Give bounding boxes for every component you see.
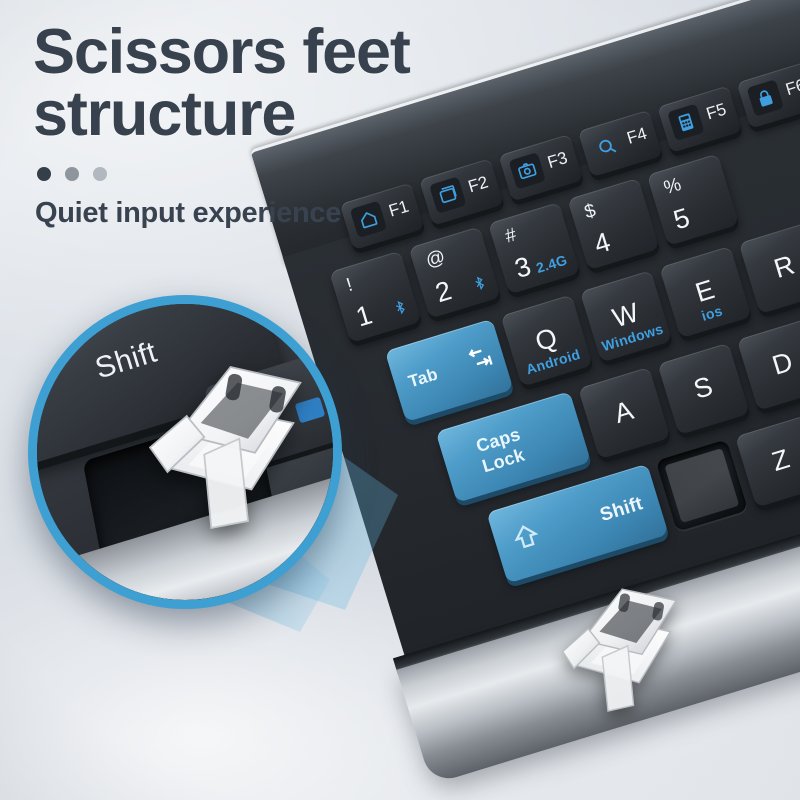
- key-f5-label: F5: [704, 100, 729, 125]
- key-caps-lock[interactable]: Caps Lock: [436, 391, 592, 503]
- key-f4-label: F4: [625, 124, 650, 149]
- key-z-legend: Z: [768, 443, 793, 478]
- magnifier-content: Shift: [37, 304, 333, 600]
- empty-keycap-well: [656, 439, 748, 531]
- bluetooth-icon: [391, 298, 411, 320]
- key-1[interactable]: ! 1: [329, 251, 421, 343]
- calculator-icon: [667, 104, 704, 141]
- key-f6-label: F6: [783, 75, 800, 100]
- key-a-legend: A: [611, 395, 638, 430]
- key-f3-label: F3: [545, 148, 570, 173]
- key-f2-label: F2: [466, 172, 491, 197]
- search-icon: [588, 128, 625, 165]
- key-5[interactable]: % 5: [647, 153, 739, 245]
- magnified-scissor-mechanism: [129, 332, 333, 542]
- key-w[interactable]: W Windows: [580, 270, 672, 362]
- key-2-legend: 2: [432, 275, 456, 309]
- key-r[interactable]: R: [739, 222, 800, 314]
- key-f2[interactable]: F2: [419, 158, 504, 226]
- key-4-legend: 4: [591, 226, 615, 260]
- key-caps-lock-label: Caps Lock: [474, 417, 553, 478]
- key-f3[interactable]: F3: [498, 134, 583, 202]
- key-r-legend: R: [771, 249, 799, 284]
- key-q[interactable]: Q Android: [500, 294, 592, 386]
- key-2-shift-legend: @: [423, 246, 448, 273]
- carousel-dot-1[interactable]: [37, 167, 51, 181]
- key-f5[interactable]: F5: [657, 85, 742, 153]
- key-f6[interactable]: F6: [737, 61, 800, 129]
- marketing-copy: Scissors feet structure Quiet input expe…: [33, 22, 410, 230]
- key-d-legend: D: [769, 346, 797, 381]
- key-e[interactable]: E ios: [659, 246, 751, 338]
- key-5-legend: 5: [670, 202, 694, 236]
- key-3-shift-legend: #: [503, 224, 520, 248]
- key-z[interactable]: Z: [735, 415, 800, 507]
- key-5-shift-legend: %: [661, 174, 684, 200]
- key-3[interactable]: # 3 2.4G: [488, 202, 580, 294]
- page-title: Scissors feet structure: [33, 22, 410, 145]
- page-subtitle: Quiet input experience: [35, 197, 410, 230]
- key-4[interactable]: $ 4: [567, 178, 659, 270]
- magnifier-circle: Shift: [28, 295, 342, 609]
- screenshot-icon: [508, 152, 545, 189]
- window-icon: [429, 176, 466, 213]
- key-a[interactable]: A: [578, 367, 670, 459]
- key-f4[interactable]: F4: [578, 110, 663, 178]
- key-1-shift-legend: !: [344, 274, 355, 297]
- carousel-dots[interactable]: [37, 167, 410, 181]
- shift-arrow-icon: [507, 518, 546, 560]
- carousel-dot-3[interactable]: [93, 167, 107, 181]
- tab-arrows-icon: [461, 340, 500, 382]
- key-2[interactable]: @ 2: [409, 226, 501, 318]
- key-tab-label: Tab: [406, 364, 440, 392]
- carousel-dot-2[interactable]: [65, 167, 79, 181]
- key-s-legend: S: [690, 371, 717, 406]
- key-d[interactable]: D: [737, 318, 800, 410]
- key-4-shift-legend: $: [582, 200, 599, 224]
- lock-icon: [747, 79, 784, 116]
- bluetooth-icon: [470, 274, 490, 296]
- key-tab[interactable]: Tab: [385, 319, 514, 423]
- product-banner: F1 F2 F3: [0, 0, 800, 800]
- key-shift-label: Shift: [598, 493, 646, 527]
- key-s[interactable]: S: [657, 343, 749, 435]
- key-3-legend: 3: [511, 251, 535, 285]
- key-3-mode-legend: 2.4G: [534, 252, 569, 277]
- key-1-legend: 1: [352, 299, 376, 333]
